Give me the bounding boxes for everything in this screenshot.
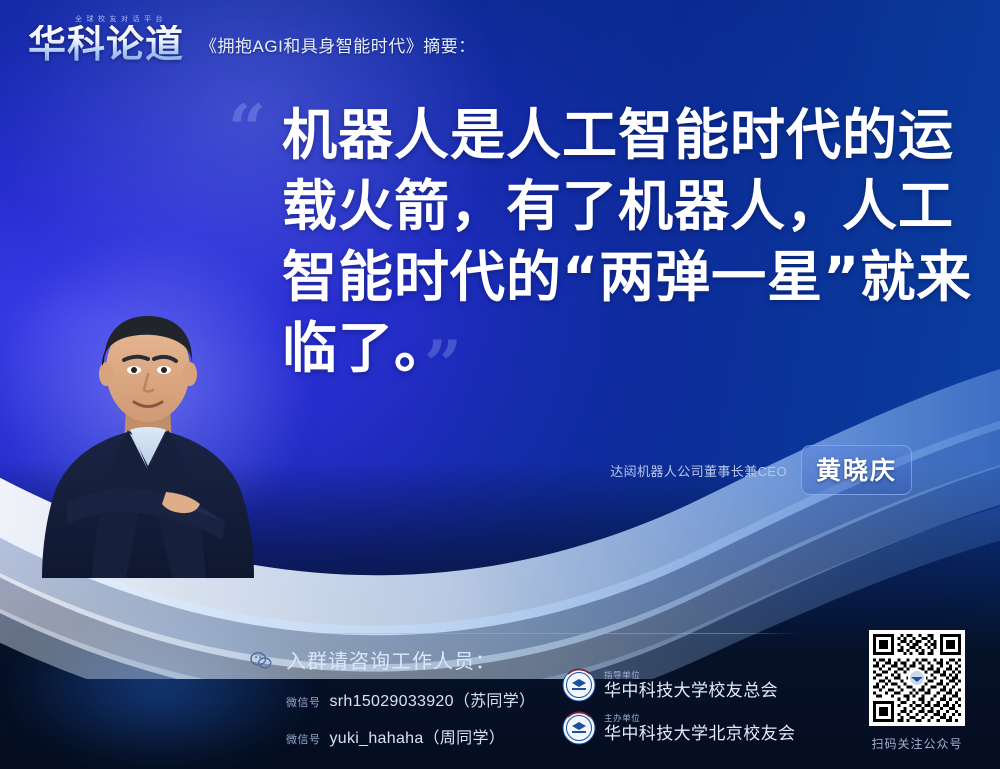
university-seal-icon: [562, 711, 596, 745]
header: 全球校友对话平台 华科论道 《拥抱AGI和具身智能时代》摘要：: [28, 14, 476, 63]
qr-caption: 扫码关注公众号: [869, 735, 965, 752]
wechat-id: yuki_hahaha（周同学）: [330, 724, 506, 748]
wechat-id: srh15029033920（苏同学）: [330, 687, 536, 711]
organization-name: 华中科技大学北京校友会: [604, 725, 795, 742]
speaker-role: 达闼机器人公司董事长兼CEO: [610, 461, 787, 480]
brand-logo: 全球校友对话平台 华科论道: [28, 14, 184, 63]
organizations-block: 指导单位 华中科技大学校友总会 主办单位 华中科技大学北京校友会: [562, 668, 795, 754]
quote-line: 临了。: [282, 313, 962, 384]
organization-name: 华中科技大学校友总会: [604, 682, 778, 699]
quote-line: 智能时代的“两弹一星”就来: [282, 242, 962, 313]
quote-line: 机器人是人工智能时代的运: [282, 100, 962, 171]
speaker-name-badge: 黄晓庆: [801, 445, 912, 495]
footer-divider: [288, 633, 798, 634]
quote-close-mark: ”: [424, 332, 462, 398]
qr-block: 扫码关注公众号: [869, 630, 965, 752]
wechat-label: 微信号: [286, 731, 321, 747]
organization-row: 指导单位 华中科技大学校友总会: [562, 668, 795, 702]
organization-kind: 主办单位: [604, 714, 795, 723]
poster-canvas: 全球校友对话平台 华科论道 《拥抱AGI和具身智能时代》摘要： “ 机器人是人工…: [0, 0, 1000, 769]
wechat-icon: [250, 651, 272, 669]
qr-code-icon[interactable]: [869, 630, 965, 726]
logo-wordmark: 华科论道: [28, 25, 184, 63]
contact-row: 微信号 srh15029033920（苏同学）: [286, 687, 535, 711]
organization-kind: 指导单位: [604, 671, 778, 680]
page-title: 《拥抱AGI和具身智能时代》摘要：: [200, 32, 476, 63]
organization-row: 主办单位 华中科技大学北京校友会: [562, 711, 795, 745]
contact-block: 入群请咨询工作人员： 微信号 srh15029033920（苏同学） 微信号 y…: [250, 645, 535, 748]
quote-open-mark: “: [228, 96, 266, 162]
speaker-portrait: [30, 278, 266, 578]
join-instruction: 入群请咨询工作人员：: [286, 645, 496, 674]
contact-row: 微信号 yuki_hahaha（周同学）: [286, 724, 535, 748]
quote-text: 机器人是人工智能时代的运 载火箭，有了机器人，人工 智能时代的“两弹一星”就来 …: [282, 100, 962, 384]
university-seal-icon: [562, 668, 596, 702]
speaker-attribution: 达闼机器人公司董事长兼CEO 黄晓庆: [610, 445, 912, 495]
wechat-label: 微信号: [286, 694, 321, 710]
quote-line: 载火箭，有了机器人，人工: [282, 171, 962, 242]
